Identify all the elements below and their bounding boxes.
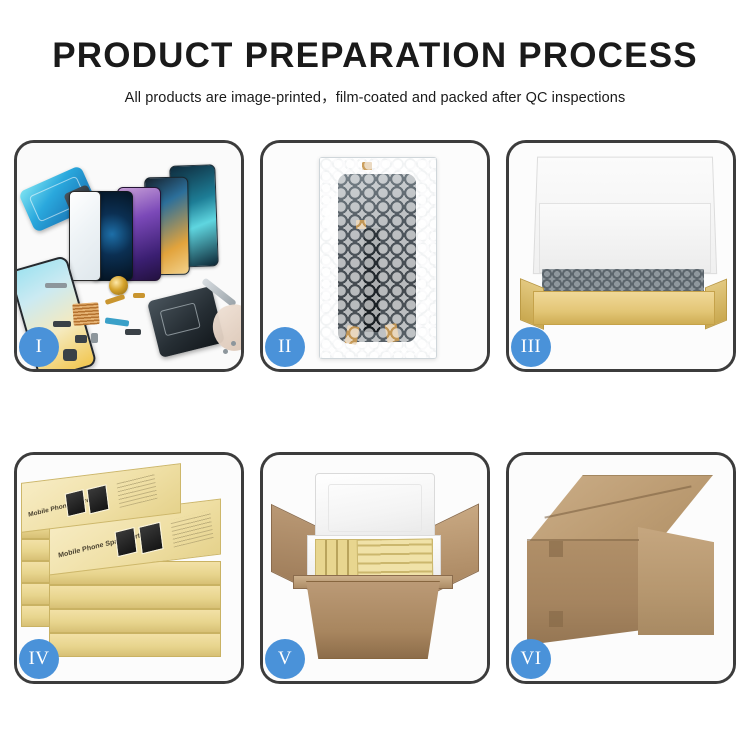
step-badge-6: VI	[511, 639, 551, 679]
process-step-panel-6: VI	[506, 452, 736, 684]
carton-top-face-graphic	[527, 475, 713, 544]
step-badge-2: II	[265, 327, 305, 367]
carton-tape-graphic	[549, 611, 563, 627]
page-subtitle: All products are image-printed，film-coat…	[0, 86, 750, 107]
process-step-panel-2: II	[260, 140, 490, 372]
process-step-panel-3: III	[506, 140, 736, 372]
carton-front-graphic	[297, 581, 449, 659]
screw-graphic	[231, 341, 236, 346]
part-chip-graphic	[75, 335, 87, 343]
white-foam-liner-graphic	[539, 203, 711, 273]
part-sim-tray-graphic	[125, 329, 141, 335]
process-step-panel-1: I	[14, 140, 244, 372]
step-badge-3: III	[511, 327, 551, 367]
part-bar-graphic	[45, 283, 67, 288]
step-badge-5: V	[265, 639, 305, 679]
process-step-panel-4: Mobile Phone Spare Parts Mobile Phone Sp…	[14, 452, 244, 684]
box-product-thumb	[86, 484, 109, 514]
coil-part-graphic	[109, 276, 128, 295]
page-header: PRODUCT PREPARATION PROCESS All products…	[0, 0, 750, 107]
carton-tape-graphic	[549, 541, 563, 557]
part-button-graphic	[91, 333, 98, 343]
tape-graphic	[362, 162, 372, 170]
wrapped-flex-cable-graphic	[364, 228, 380, 332]
process-step-panel-5: V	[260, 452, 490, 684]
copper-mesh-part-graphic	[72, 302, 99, 326]
box-spec-text-block	[170, 510, 213, 547]
screen-protector-graphic	[69, 191, 101, 281]
carton-edge-seam-graphic	[527, 539, 639, 541]
tape-graphic	[356, 220, 366, 229]
part-flex-cyan-graphic	[105, 317, 130, 326]
box-product-thumb	[138, 522, 163, 555]
box-product-thumb	[114, 527, 137, 557]
stacked-box	[49, 609, 221, 633]
box-front-panel-graphic	[533, 291, 715, 325]
page-title: PRODUCT PREPARATION PROCESS	[0, 38, 750, 75]
part-gold-strip-graphic	[133, 293, 145, 298]
stacked-box	[49, 633, 221, 657]
step-badge-4: IV	[19, 639, 59, 679]
part-flex-gold-graphic	[105, 294, 126, 305]
bubble-wrap-bag-graphic	[319, 157, 437, 359]
part-speaker-graphic	[63, 349, 77, 361]
stacked-box	[49, 585, 221, 609]
process-step-grid: I II III	[14, 140, 736, 684]
box-spec-text-block	[117, 473, 158, 508]
screw-graphic	[223, 349, 228, 354]
box-product-thumb	[65, 489, 87, 517]
step-badge-1: I	[19, 327, 59, 367]
carton-left-face-graphic	[527, 541, 639, 645]
carton-right-face-graphic	[638, 527, 714, 635]
part-connector-graphic	[53, 321, 71, 327]
